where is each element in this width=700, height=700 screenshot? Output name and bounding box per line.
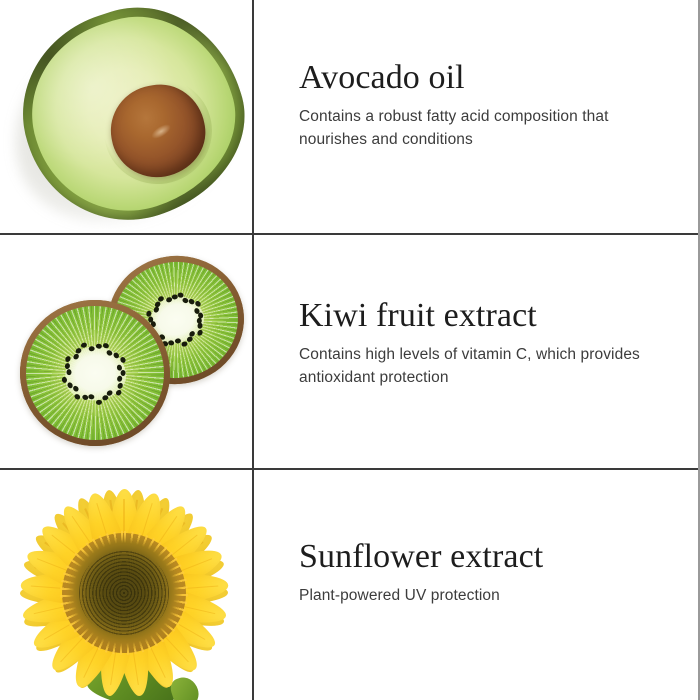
kiwi-seed bbox=[80, 342, 87, 349]
kiwi-seed bbox=[121, 370, 126, 376]
kiwi-seed bbox=[194, 300, 202, 308]
kiwi-seed bbox=[102, 342, 109, 349]
kiwi-seed bbox=[73, 393, 81, 401]
kiwi-seed bbox=[81, 394, 88, 401]
kiwi-seed bbox=[95, 344, 102, 350]
kiwi-seed bbox=[196, 329, 203, 337]
avocado-image-cell bbox=[0, 0, 252, 234]
kiwi-seed bbox=[181, 341, 188, 348]
kiwi-seed bbox=[101, 395, 108, 402]
section-divider-1 bbox=[0, 233, 698, 235]
kiwi-seed bbox=[119, 356, 126, 364]
sunflower-photo bbox=[0, 469, 252, 700]
section-divider-2 bbox=[0, 468, 698, 470]
kiwi-seed bbox=[168, 340, 175, 346]
kiwi-seed bbox=[114, 389, 122, 397]
kiwi-seed bbox=[88, 394, 95, 400]
ingredient-row-kiwi: Kiwi fruit extract Contains high levels … bbox=[0, 234, 698, 469]
ingredient-benefits-panel: Avocado oil Contains a robust fatty acid… bbox=[0, 0, 700, 700]
ingredient-title-avocado: Avocado oil bbox=[299, 58, 680, 98]
sunflower-text-cell: Sunflower extract Plant-powered UV prote… bbox=[252, 469, 698, 700]
sunflower-disc-ring bbox=[60, 531, 188, 655]
kiwi-seed bbox=[174, 338, 180, 343]
kiwi-seed bbox=[89, 346, 96, 352]
kiwi-seed bbox=[157, 295, 165, 302]
kiwi-seed bbox=[116, 382, 123, 390]
ingredient-description-kiwi: Contains high levels of vitamin C, which… bbox=[299, 343, 680, 389]
kiwi-seed bbox=[67, 370, 72, 376]
ingredient-row-sunflower: Sunflower extract Plant-powered UV prote… bbox=[0, 469, 698, 700]
sunflower-image-cell bbox=[0, 469, 252, 700]
ingredient-description-sunflower: Plant-powered UV protection bbox=[299, 584, 680, 607]
kiwi-seed bbox=[75, 347, 83, 355]
kiwi-image-cell bbox=[0, 234, 252, 469]
column-divider bbox=[252, 0, 254, 700]
kiwi-slices-photo bbox=[0, 242, 252, 464]
kiwi-seed bbox=[64, 355, 71, 363]
ingredient-title-kiwi: Kiwi fruit extract bbox=[299, 296, 680, 336]
kiwi-seed bbox=[62, 376, 68, 383]
avocado-text-cell: Avocado oil Contains a robust fatty acid… bbox=[252, 0, 698, 234]
ingredient-row-avocado: Avocado oil Contains a robust fatty acid… bbox=[0, 0, 698, 234]
kiwi-seed bbox=[72, 353, 80, 361]
kiwi-seed bbox=[198, 312, 204, 319]
ingredient-title-sunflower: Sunflower extract bbox=[299, 537, 680, 577]
kiwi-seed bbox=[95, 399, 102, 405]
kiwi-text-cell: Kiwi fruit extract Contains high levels … bbox=[252, 234, 698, 469]
ingredient-description-avocado: Contains a robust fatty acid composition… bbox=[299, 105, 680, 151]
avocado-half-photo bbox=[4, 2, 252, 232]
